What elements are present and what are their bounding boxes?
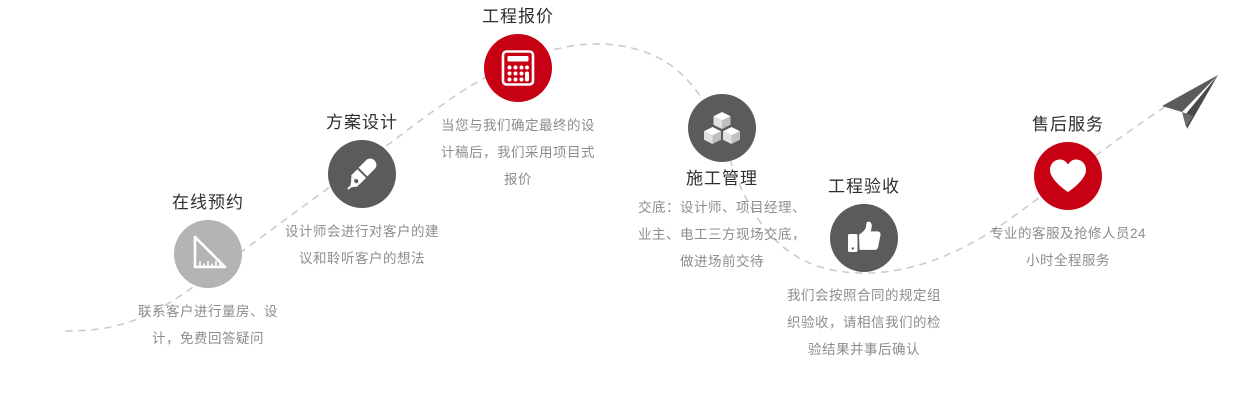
process-flow-diagram: 在线预约 联系客户进行量房、设计，免费回答疑问 方案设计 <box>0 0 1245 402</box>
step-6[interactable]: 售后服务 专业的客服及抢修人员24小时全程服务 <box>973 114 1163 274</box>
step-4-title: 施工管理 <box>686 168 758 190</box>
step-2-description: 设计师会进行对客户的建议和聆听客户的想法 <box>282 218 442 272</box>
step-5-title: 工程验收 <box>769 176 959 198</box>
step-1-description: 联系客户进行量房、设计，免费回答疑问 <box>128 298 288 352</box>
step-2-icon-circle[interactable] <box>328 140 396 208</box>
step-3-icon-circle[interactable] <box>484 34 552 102</box>
step-3[interactable]: 工程报价 当您与我们确定最终的 <box>423 6 613 193</box>
step-1-icon-circle[interactable] <box>174 220 242 288</box>
step-5-description: 我们会按照合同的规定组织验收，请相信我们的检验结果并事后确认 <box>784 282 944 363</box>
pen-nib-icon <box>342 154 382 194</box>
step-3-description: 当您与我们确定最终的设计稿后，我们采用项目式报价 <box>438 112 598 193</box>
step-6-title: 售后服务 <box>973 114 1163 136</box>
paper-plane-icon <box>1152 72 1222 134</box>
step-4-icon-circle[interactable] <box>688 94 756 162</box>
heart-icon <box>1048 157 1088 195</box>
ruler-triangle-icon <box>188 234 228 274</box>
step-6-icon-circle[interactable] <box>1034 142 1102 210</box>
step-6-description: 专业的客服及抢修人员24小时全程服务 <box>988 220 1148 274</box>
stacked-boxes-icon <box>702 108 742 148</box>
thumbs-up-icon <box>844 218 884 258</box>
calculator-icon <box>499 49 537 87</box>
step-5-icon-circle[interactable] <box>830 204 898 272</box>
step-3-title: 工程报价 <box>423 6 613 28</box>
step-5[interactable]: 工程验收 我们会按照合同的规定组织验收，请相信我们的检验结果并事后确认 <box>769 176 959 363</box>
